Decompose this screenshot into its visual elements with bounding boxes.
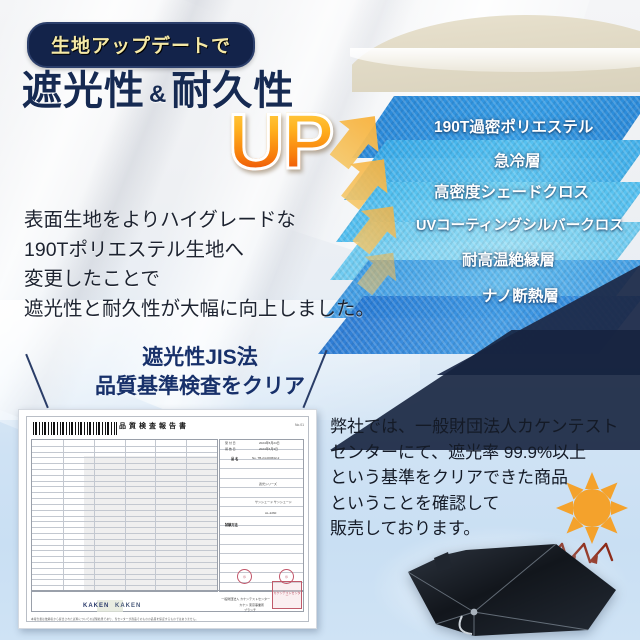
certificate-date2-label: 報 告 日 [225,447,236,451]
quality-certificate-card: 品質検査報告書 No.01 受 付 日 2024年5月24日 報 告 日 202… [18,409,317,629]
body-copy-line: 表面生地をよりハイグレードな [24,206,375,236]
certificate-item-value: No. TB-24-000632-2 [252,456,279,460]
table-gridline [220,553,303,554]
cream-fabric-layer [352,0,640,92]
fabric-layer-label: 耐高温絶縁層 [462,248,555,270]
certificate-date1-value: 2024年5月24日 [259,441,280,445]
certificate-sample2-value: AL-2260 [265,511,276,515]
jis-heading: 遮光性JIS法 品質基準検査をクリア [60,344,340,402]
certificate-table-shading [84,456,217,591]
body-copy: 表面生地をよりハイグレードな190Tポリエステル生地へ変更したことで遮光性と耐久… [24,206,375,325]
body-copy-line: 変更したことで [24,265,375,295]
certificate-date1-label: 受 付 日 [225,441,236,445]
table-gridline [220,534,303,535]
certificate-data-table [31,439,218,592]
body-copy-line: 遮光性と耐久性が大幅に向上しました。 [24,295,375,325]
table-gridline [220,544,303,545]
table-gridline [220,497,303,498]
fabric-layer-label: ナノ断熱層 [482,284,559,306]
car-sunshade-icon [378,538,628,640]
table-gridline [63,440,64,591]
table-gridline [220,487,303,488]
right-copy-line: センターにて、遮光率 99.9%以上 [330,440,619,466]
certificate-logo-1: KAKEN [83,603,109,609]
certificate-footer-sub: ブランチ [244,608,256,612]
table-gridline [125,440,126,591]
sun-ray [585,472,599,489]
approver-seal-icon: 印 [279,569,294,584]
fabric-layer-label: 急冷層 [494,149,541,171]
right-copy-line: 弊社では、一般財団法人カケンテスト [330,414,619,440]
jis-heading-line2: 品質基準検査をクリア [60,373,340,402]
fabric-layer-label: 高密度シェードクロス [434,180,589,202]
certificate-detail-panel [219,439,304,592]
table-gridline [94,440,95,591]
sun-ray [611,501,628,515]
certificate-date2-value: 2024年6月3日 [259,447,278,451]
update-badge-label: 生地アップデートで [51,36,231,57]
body-copy-line: 190Tポリエステル生地へ [24,236,375,266]
inspector-seal-icon: 印 [237,569,252,584]
fabric-layer-label: 190T過密ポリエステル [434,115,593,137]
certificate-footer-row [31,590,304,612]
barcode-icon [33,422,117,435]
jis-heading-line1: 遮光性JIS法 [60,344,340,373]
table-gridline [220,563,303,564]
certificate-note-label: 試験方法 [225,522,238,527]
certificate-code: No.01 [295,423,304,427]
certificate-bottom-note: 本報告書は依頼者から提出された試料についての試験結果であり、当センターが商品その… [31,617,301,621]
up-text: UP [228,104,332,178]
certificate-title: 品質検査報告書 [119,421,189,431]
table-gridline [220,478,303,479]
certificate-logo-2: KAKEN [115,603,141,609]
table-gridline [186,440,187,591]
table-gridline [155,440,156,591]
decor-slash-left [25,354,49,409]
headline-left: 遮光性 [22,69,145,113]
fabric-layer-label: UVコーティングシルバークロス [416,214,624,235]
table-gridline [220,506,303,507]
table-gridline [220,468,303,469]
certificate-sample-value: サンシェード サンシェード [255,500,292,504]
certificate-red-stamp: カケンテストセンター [272,581,302,609]
certificate-footer-branch: カケン 東京事業所 [239,603,264,607]
certificate-applicant-value: 遮光シリーズ [259,482,277,486]
certificate-item-label: 品 名 [231,456,238,461]
certificate-footer-org: 一般財団法人 カケンテストセンター [221,597,270,601]
promo-banner: 生地アップデートで 遮光性&耐久性 UP 190T過密ポリエステル急冷層高密度シ… [0,0,640,640]
sun-ray [556,501,573,515]
table-gridline [220,516,303,517]
headline-ampersand: & [145,81,171,108]
